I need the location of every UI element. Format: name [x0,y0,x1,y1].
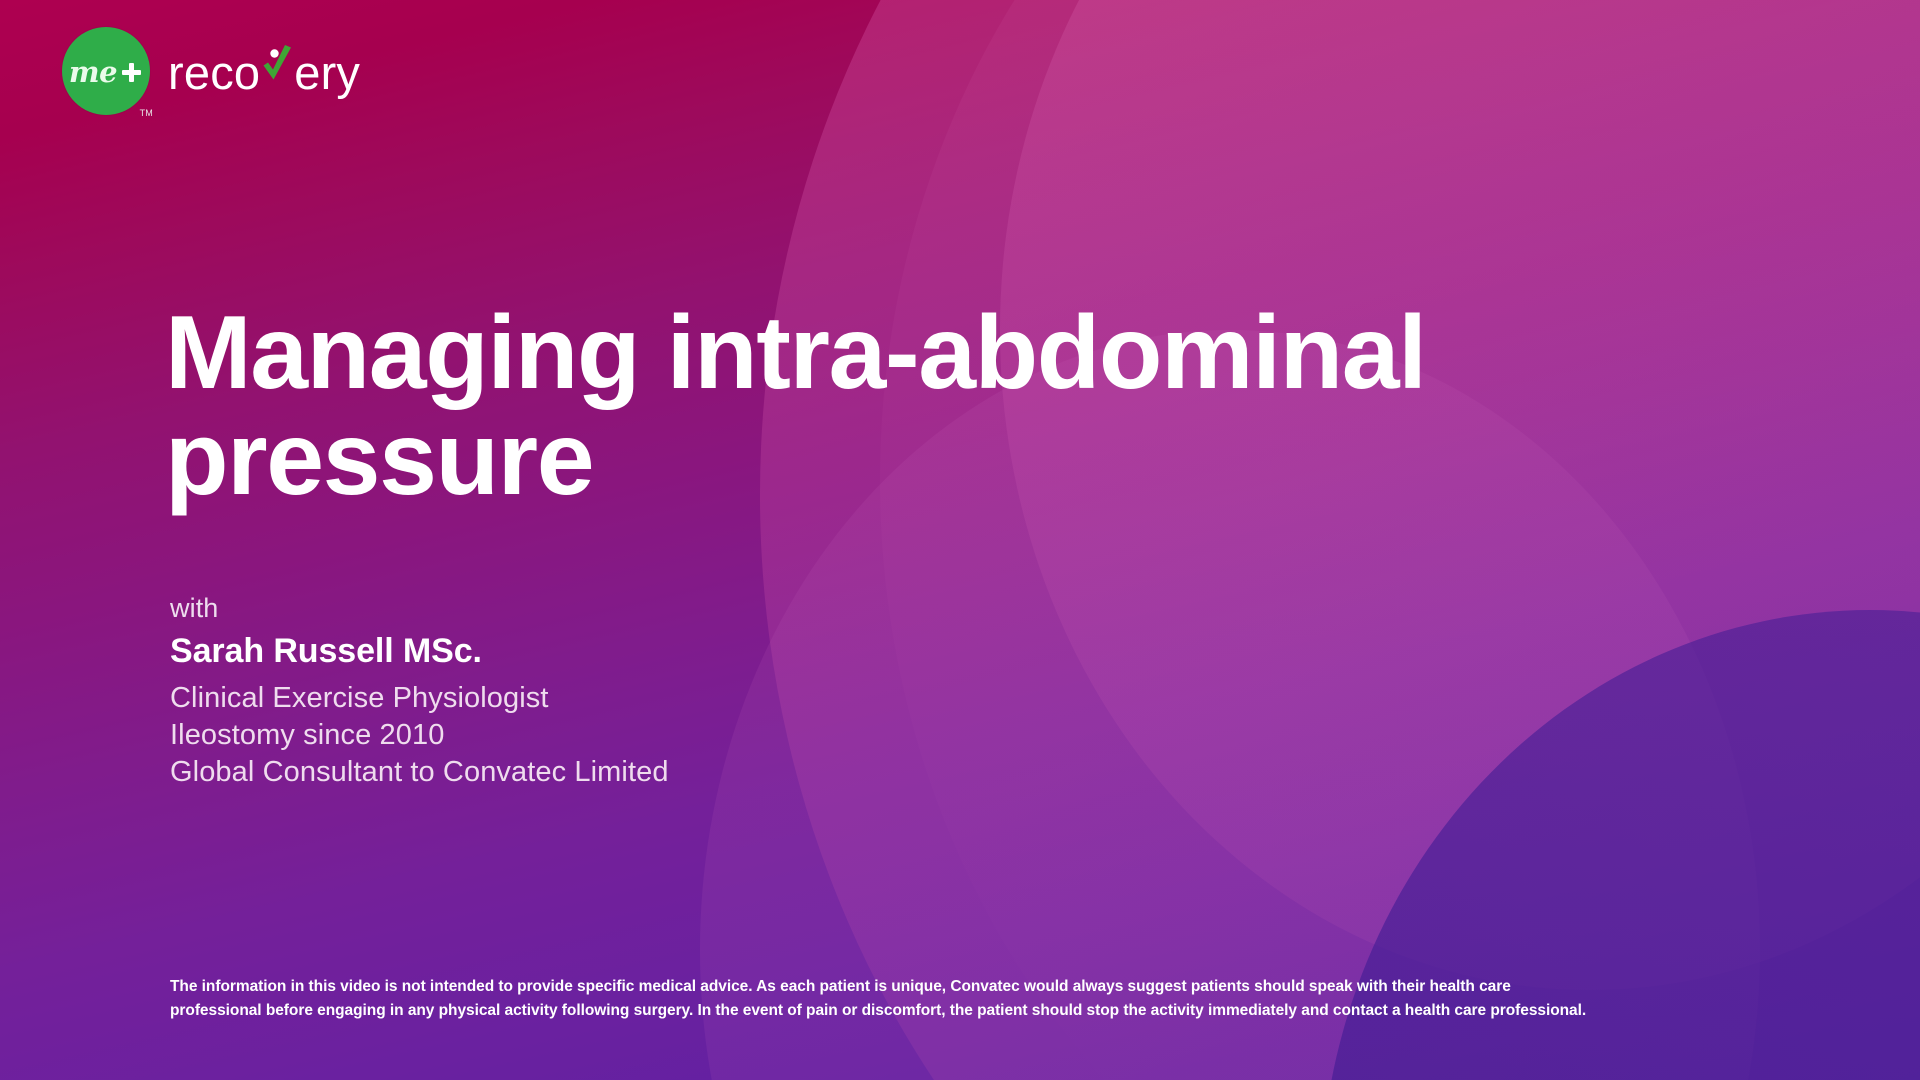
plus-icon [122,63,141,82]
title-line-1: Managing intra-abdominal [165,300,1545,406]
page-title: Managing intra-abdominal pressure [165,300,1545,512]
medical-disclaimer: The information in this video is not int… [170,975,1600,1022]
disclaimer-line-2: professional before engaging in any phys… [170,999,1600,1023]
presenter-with-label: with [170,593,669,624]
presenter-block: with Sarah Russell MSc. Clinical Exercis… [170,593,669,791]
disclaimer-line-1: The information in this video is not int… [170,975,1600,999]
green-check-icon [260,43,294,89]
presenter-name: Sarah Russell MSc. [170,632,669,671]
title-slide: me TM reco ery Managing intra-abdominal … [0,0,1920,1080]
wordmark-prefix: reco [168,45,260,100]
background-arc-main [760,0,1920,1080]
trademark-symbol: TM [140,108,153,118]
presenter-credential-1: Clinical Exercise Physiologist [170,680,669,717]
me-plus-badge-icon: me TM [62,27,150,115]
badge-me-text: me [69,55,117,89]
title-line-2: pressure [165,406,1545,512]
presenter-credential-2: Ileostomy since 2010 [170,717,669,754]
wordmark-suffix: ery [294,45,360,100]
recovery-wordmark: reco ery [168,43,360,100]
background-arc-edge [880,0,1920,1080]
presenter-credential-3: Global Consultant to Convatec Limited [170,754,669,791]
brand-logo: me TM reco ery [62,27,360,115]
